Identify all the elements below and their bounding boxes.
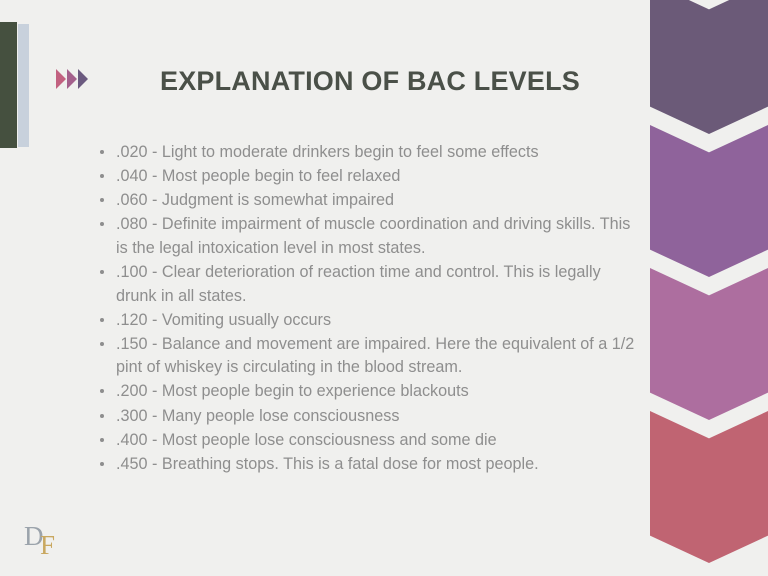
- chevron-shape: [650, 0, 768, 134]
- bullet-dot-icon: [100, 389, 104, 393]
- bullet-dot-icon: [100, 150, 104, 154]
- left-accent-bars: [0, 22, 30, 148]
- triple-chevron-icon: [56, 69, 88, 89]
- list-item-text: .450 - Breathing stops. This is a fatal …: [116, 455, 539, 473]
- list-item: .060 - Judgment is somewhat impaired: [92, 189, 640, 213]
- list-item-text: .150 - Balance and movement are impaired…: [116, 335, 634, 377]
- list-item-text: .200 - Most people begin to experience b…: [116, 382, 469, 400]
- bullet-dot-icon: [100, 438, 104, 442]
- bullet-dot-icon: [100, 198, 104, 202]
- list-item: .080 - Definite impairment of muscle coo…: [92, 213, 640, 260]
- list-item-text: .020 - Light to moderate drinkers begin …: [116, 143, 539, 161]
- bullet-dot-icon: [100, 174, 104, 178]
- list-item: .150 - Balance and movement are impaired…: [92, 333, 640, 380]
- chevron-shape: [650, 268, 768, 420]
- list-item: .200 - Most people begin to experience b…: [92, 380, 640, 404]
- chevron-shape: [650, 411, 768, 563]
- bullet-dot-icon: [100, 342, 104, 346]
- list-item-text: .400 - Most people lose consciousness an…: [116, 431, 497, 449]
- list-item-text: .100 - Clear deterioration of reaction t…: [116, 263, 601, 305]
- bullet-dot-icon: [100, 270, 104, 274]
- df-monogram-logo: D F: [24, 523, 70, 563]
- list-item-text: .120 - Vomiting usually occurs: [116, 311, 331, 329]
- bullet-dot-icon: [100, 222, 104, 226]
- list-item: .300 - Many people lose consciousness: [92, 405, 640, 429]
- list-item: .020 - Light to moderate drinkers begin …: [92, 141, 640, 165]
- left-accent-green-bar: [0, 22, 17, 148]
- list-item-text: .060 - Judgment is somewhat impaired: [116, 191, 394, 209]
- list-item: .400 - Most people lose consciousness an…: [92, 429, 640, 453]
- list-item-text: .040 - Most people begin to feel relaxed: [116, 167, 400, 185]
- chevron-shape: [650, 125, 768, 277]
- page-title: EXPLANATION OF BAC LEVELS: [110, 66, 630, 97]
- bullet-dot-icon: [100, 462, 104, 466]
- logo-letter-f: F: [40, 532, 55, 559]
- list-item: .100 - Clear deterioration of reaction t…: [92, 261, 640, 308]
- list-item: .120 - Vomiting usually occurs: [92, 309, 640, 333]
- right-chevron-decoration: [650, 0, 768, 576]
- list-item-text: .300 - Many people lose consciousness: [116, 407, 399, 425]
- list-item: .040 - Most people begin to feel relaxed: [92, 165, 640, 189]
- slide-canvas: EXPLANATION OF BAC LEVELS .020 - Light t…: [0, 0, 768, 576]
- list-item-text: .080 - Definite impairment of muscle coo…: [116, 215, 630, 257]
- bullet-dot-icon: [100, 414, 104, 418]
- bac-levels-list: .020 - Light to moderate drinkers begin …: [92, 141, 640, 477]
- list-item: .450 - Breathing stops. This is a fatal …: [92, 453, 640, 477]
- left-accent-blue-bar: [18, 24, 29, 147]
- bullet-dot-icon: [100, 318, 104, 322]
